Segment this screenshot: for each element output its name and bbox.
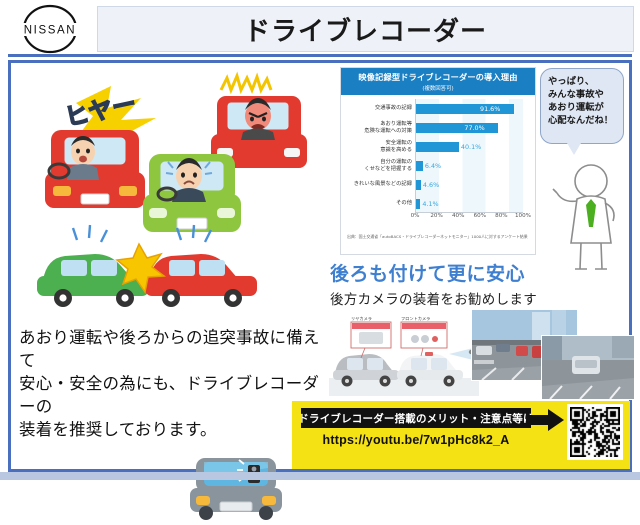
- bubble-line-1: やっぱり、: [548, 75, 619, 88]
- chart-x-tick: 100%: [515, 213, 531, 219]
- chart-x-tick: 60%: [474, 213, 486, 219]
- chart-bar-row: 交通事故の記録91.6%: [416, 104, 523, 114]
- copy-line-1: あおり運転や後ろからの追突事故に備えて: [19, 326, 331, 372]
- qr-code[interactable]: [567, 404, 623, 460]
- bubble-line-2: みんな事故や: [548, 88, 619, 101]
- businessman-illustration: [551, 159, 631, 274]
- page-title: ドライブレコーダー: [244, 11, 487, 48]
- bubble-line-4: 心配なんだね！: [548, 114, 619, 127]
- svg-text:NISSAN: NISSAN: [24, 25, 76, 37]
- chart-category-label: きれいな風景などの記録: [342, 181, 416, 187]
- chart-category-label: 安全運転の 意識を高める: [342, 140, 416, 152]
- chart-body: 交通事故の記録91.6%あおり運転等 危険な運転への対策77.0%安全運転の 意…: [341, 95, 535, 233]
- chart-bar-row: あおり運転等 危険な運転への対策77.0%: [416, 123, 523, 133]
- chart-subtitle: (複数回答可): [341, 84, 535, 92]
- dashcam-car-illustration: [186, 448, 286, 520]
- rear-camera-photo: [541, 335, 635, 400]
- chart-category-label: 自分の運転の くせなどを把握する: [342, 159, 416, 171]
- chart-value-label: 4.1%: [422, 200, 438, 208]
- chart-x-axis: 0%20%40%60%80%100%: [415, 213, 523, 223]
- slide-root: NISSAN ドライブレコーダー ヒヤー: [0, 0, 640, 480]
- copy-line-2: 安心・安全の為にも、ドライブレコーダーの: [19, 372, 331, 418]
- video-url[interactable]: https://youtu.be/7w1pHc8k2_A: [301, 433, 531, 447]
- camera-mount-diagram: リヤカメラ フロントカメラ: [329, 308, 479, 396]
- road-rage-illustration: ヒヤー: [21, 68, 331, 318]
- bubble-line-3: あおり運転が: [548, 101, 619, 114]
- chart-bar: [416, 142, 459, 152]
- chart-category-label: あおり運転等 危険な運転への対策: [342, 121, 416, 133]
- chart-x-tick: 80%: [495, 213, 507, 219]
- rear-camera-label: リヤカメラ: [351, 316, 372, 322]
- chart-x-tick: 20%: [430, 213, 442, 219]
- headline-main: 後ろも付けて更に安心: [330, 259, 630, 286]
- chart-plot-area: 交通事故の記録91.6%あおり運転等 危険な運転への対策77.0%安全運転の 意…: [415, 99, 523, 213]
- header: NISSAN ドライブレコーダー: [0, 0, 640, 56]
- speech-bubble-tail: [567, 143, 581, 155]
- chart-bar-row: 安全運転の 意識を高める40.1%: [416, 142, 523, 152]
- chart-x-tick: 40%: [452, 213, 464, 219]
- chart-x-tick: 0%: [411, 213, 420, 219]
- chart-value-label: 77.0%: [464, 124, 484, 132]
- survey-chart-panel: 映像記録型ドライブレコーダーの導入理由 (複数回答可) 交通事故の記録91.6%…: [340, 67, 536, 255]
- headline-block: 後ろも付けて更に安心 後方カメラの装着をお勧めします: [330, 259, 630, 308]
- footer-stripe: [0, 472, 640, 480]
- speech-bubble: やっぱり、 みんな事故や あおり運転が 心配なんだね！: [540, 68, 624, 144]
- chart-bar: [416, 123, 498, 133]
- chart-bar: [416, 180, 421, 190]
- main-copy: あおり運転や後ろからの追突事故に備えて 安心・安全の為にも、ドライブレコーダーの…: [19, 326, 331, 441]
- chart-category-label: 交通事故の記録: [342, 105, 416, 111]
- headline-sub: 後方カメラの装着をお勧めします: [330, 288, 630, 308]
- page-title-box: ドライブレコーダー: [97, 6, 634, 52]
- chart-value-label: 4.6%: [423, 181, 439, 189]
- chart-bar-row: きれいな風景などの記録4.6%: [416, 180, 523, 190]
- chart-value-label: 6.4%: [425, 162, 441, 170]
- header-divider: [8, 54, 632, 57]
- chart-category-label: その他: [342, 200, 416, 206]
- chart-bar: [416, 199, 420, 209]
- chart-source: 出典：国土交通省「autoBACS・ドライブレコーダーネットモニター」1000人…: [341, 233, 535, 239]
- chart-title: 映像記録型ドライブレコーダーの導入理由: [341, 71, 535, 83]
- chart-bar: [416, 161, 423, 171]
- nissan-logo: NISSAN: [8, 4, 92, 54]
- copy-line-3: 装着を推奨しております。: [19, 418, 331, 441]
- banner-headline: ドライブレコーダー搭載のメリット・注意点等は: [298, 411, 533, 426]
- arrow-right-icon: [526, 409, 564, 431]
- chart-value-label: 40.1%: [461, 143, 481, 151]
- chart-header: 映像記録型ドライブレコーダーの導入理由 (複数回答可): [341, 68, 535, 95]
- chart-bar-row: その他4.1%: [416, 199, 523, 209]
- banner-headline-box: ドライブレコーダー搭載のメリット・注意点等は: [301, 408, 531, 428]
- chart-value-label: 91.6%: [480, 105, 500, 113]
- chart-bar-row: 自分の運転の くせなどを把握する6.4%: [416, 161, 523, 171]
- front-camera-label: フロントカメラ: [401, 316, 430, 322]
- content-card: ヒヤー: [8, 60, 632, 472]
